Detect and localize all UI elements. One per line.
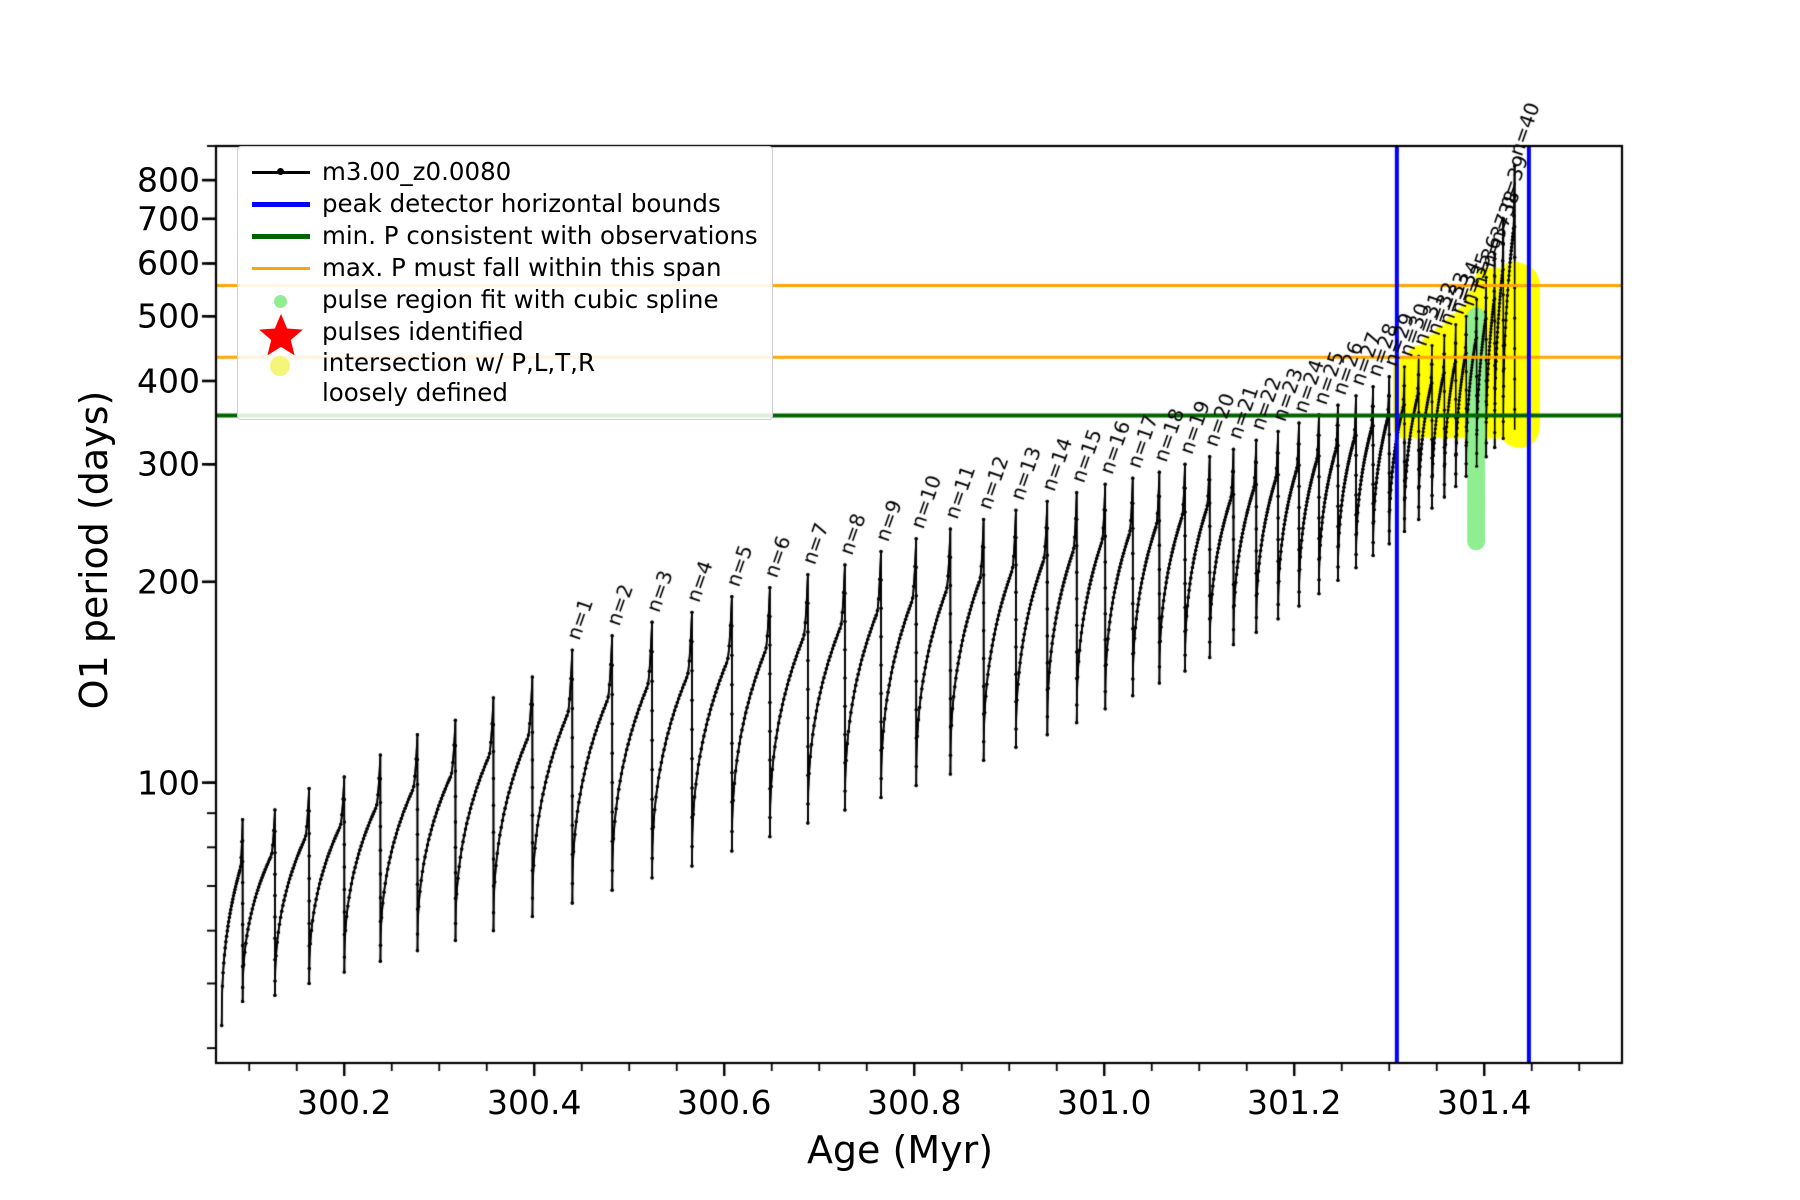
legend-line-swatch <box>250 220 312 252</box>
legend-item: intersection w/ P,L,T,R loosely defined <box>250 348 758 408</box>
x-tick-label: 301.2 <box>1247 1083 1341 1122</box>
x-tick-label: 300.8 <box>867 1083 961 1122</box>
legend-star-marker-swatch <box>250 316 312 348</box>
y-tick-label: 400 <box>40 361 200 400</box>
y-tick-label: 700 <box>40 199 200 238</box>
legend-item: peak detector horizontal bounds <box>250 188 758 220</box>
y-tick-label: 300 <box>40 445 200 484</box>
figure-canvas-container: O1 period (days) Age (Myr) 300.2300.4300… <box>0 0 1800 1200</box>
legend-item: pulses identified <box>250 316 758 348</box>
legend-item: m3.00_z0.0080 <box>250 156 758 188</box>
y-tick-label: 600 <box>40 244 200 283</box>
x-tick-label: 300.6 <box>677 1083 771 1122</box>
x-tick-label: 301.4 <box>1437 1083 1531 1122</box>
legend-line-swatch <box>250 188 312 220</box>
legend-line-swatch <box>250 252 312 284</box>
legend-item-label: pulse region fit with cubic spline <box>322 285 719 315</box>
legend-item: pulse region fit with cubic spline <box>250 284 758 316</box>
legend-item-label: m3.00_z0.0080 <box>322 157 511 187</box>
legend-item: max. P must fall within this span <box>250 252 758 284</box>
y-tick-label: 500 <box>40 297 200 336</box>
x-tick-label: 300.4 <box>487 1083 581 1122</box>
legend-line-marker-swatch <box>250 156 312 188</box>
x-axis-label: Age (Myr) <box>0 1128 1800 1172</box>
legend-item-label: max. P must fall within this span <box>322 253 722 283</box>
legend-item-label: min. P consistent with observations <box>322 221 758 251</box>
legend-item-label: intersection w/ P,L,T,R loosely defined <box>322 348 595 408</box>
chart-legend: m3.00_z0.0080peak detector horizontal bo… <box>237 146 773 420</box>
x-tick-label: 300.2 <box>297 1083 391 1122</box>
x-tick-label: 301.0 <box>1057 1083 1151 1122</box>
y-tick-label: 100 <box>40 763 200 802</box>
y-tick-label: 200 <box>40 562 200 601</box>
legend-item: min. P consistent with observations <box>250 220 758 252</box>
legend-item-label: pulses identified <box>322 317 524 347</box>
y-tick-label: 800 <box>40 161 200 200</box>
legend-item-label: peak detector horizontal bounds <box>322 189 721 219</box>
legend-blob-marker-swatch <box>250 348 312 380</box>
